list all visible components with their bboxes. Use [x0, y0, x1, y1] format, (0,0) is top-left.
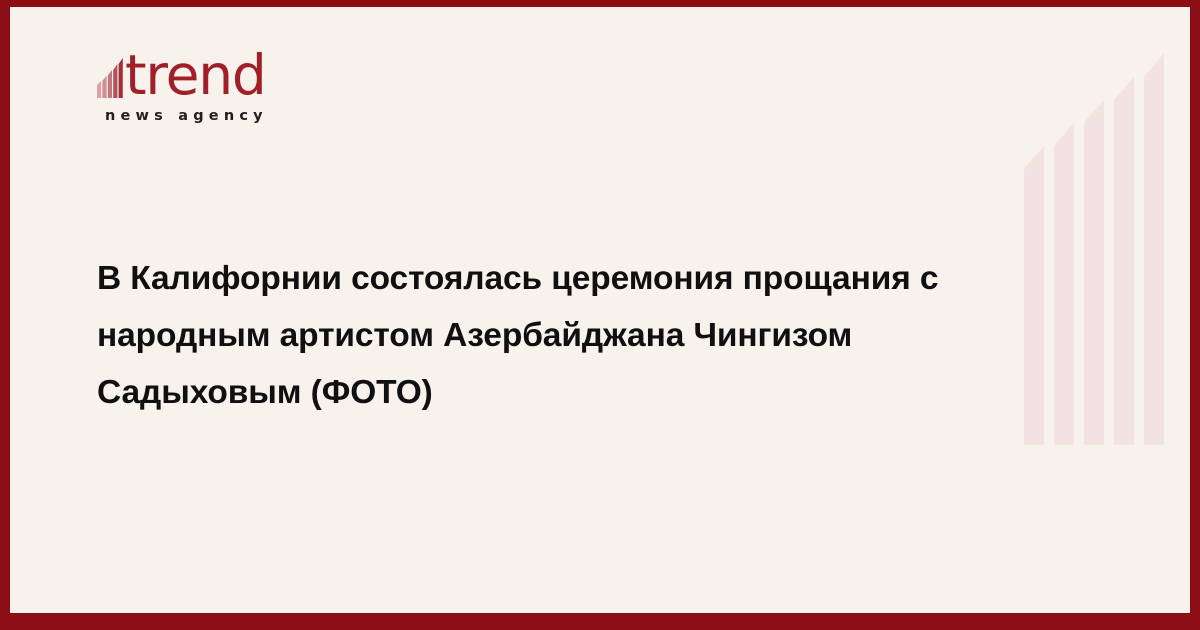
brand-logo[interactable]: trend news agency	[97, 47, 269, 124]
logo-wordmark-row: trend	[97, 47, 269, 99]
skyline-bars-icon	[97, 52, 127, 98]
card-content-area: trend news agency В Калифорнии состоялас…	[10, 7, 1190, 613]
headline-line-2: народным артистом Азербайджана Чингизом	[97, 307, 1002, 364]
logo-tagline: news agency	[105, 108, 269, 124]
skyline-bars-watermark	[1010, 7, 1190, 613]
article-headline: В Калифорнии состоялась церемония прощан…	[97, 250, 1002, 421]
share-card: trend news agency В Калифорнии состоялас…	[0, 0, 1200, 630]
headline-line-1: В Калифорнии состоялась церемония прощан…	[97, 250, 1002, 307]
logo-wordmark-text: trend	[125, 52, 266, 98]
headline-line-3: Садыховым (ФОТО)	[97, 364, 1002, 421]
